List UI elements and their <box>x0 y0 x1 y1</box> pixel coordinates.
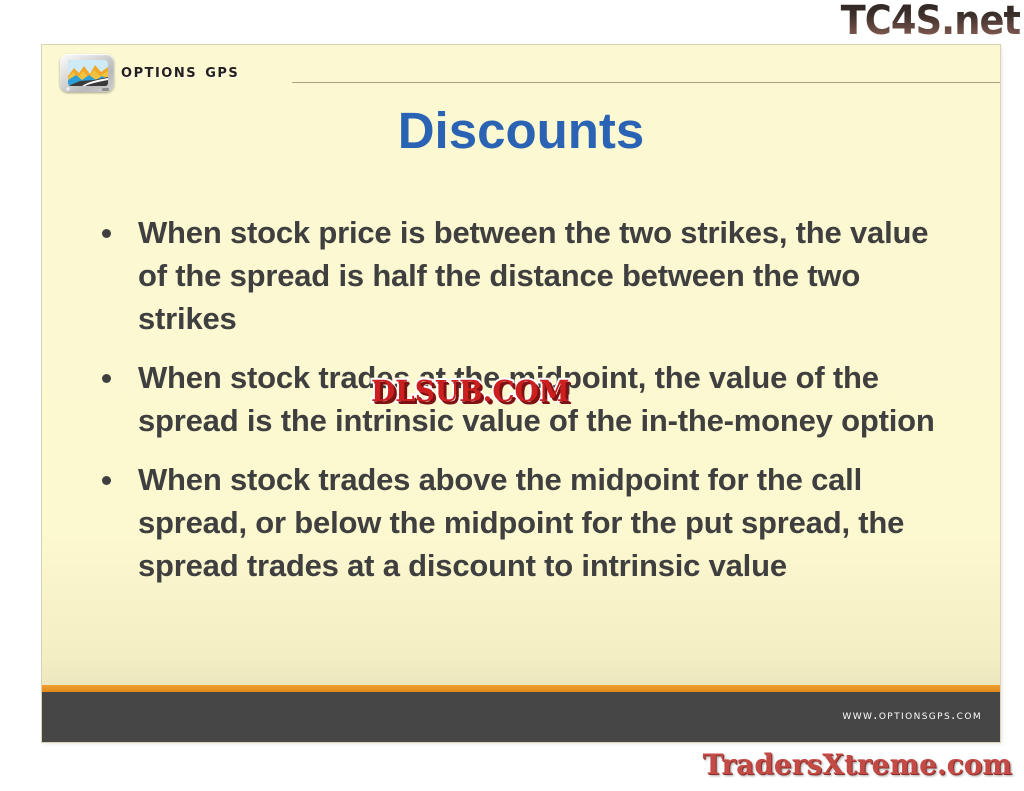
bullet-dot-icon <box>102 476 111 485</box>
bullet-dot-icon <box>102 229 111 238</box>
logo-device-button <box>102 88 109 91</box>
bullet-dot-icon <box>102 374 111 383</box>
list-item: When stock price is between the two stri… <box>92 211 980 340</box>
slide-footer: www.OptionsGPS.com <box>42 692 1000 742</box>
header-divider <box>292 82 1000 83</box>
slide-header: Options GPS <box>42 45 1000 99</box>
list-item-text: When stock price is between the two stri… <box>138 211 943 340</box>
brand-name: Options GPS <box>121 60 239 82</box>
logo-device-screen <box>68 60 108 86</box>
footer-accent-bar <box>42 685 1000 692</box>
list-item: When stock trades above the midpoint for… <box>92 458 980 587</box>
tc4s-watermark: TC4S.net <box>840 0 1020 44</box>
logo-device-led <box>66 87 71 92</box>
page-title: Discounts <box>42 101 1000 160</box>
tradersxtreme-watermark: TradersXtreme.com <box>703 748 1012 781</box>
footer-website-url: www.OptionsGPS.com <box>842 708 982 723</box>
dlsub-watermark: DLSUB.COM <box>371 374 570 408</box>
gps-device-chart-icon <box>60 54 114 94</box>
list-item-text: When stock trades above the midpoint for… <box>138 458 973 587</box>
